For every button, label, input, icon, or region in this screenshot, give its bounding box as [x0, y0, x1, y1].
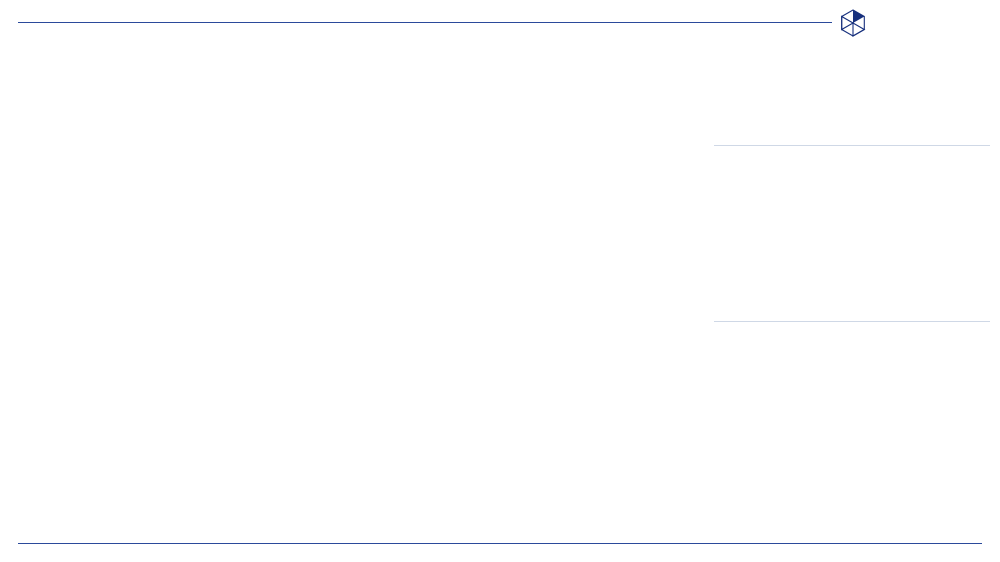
footer-divider: [18, 543, 982, 544]
chart-used-cars: [28, 312, 696, 502]
panel-used-divider: [714, 321, 990, 322]
autostat-hexagon-logo-icon: [838, 8, 868, 38]
chart-new-cars: [28, 132, 696, 312]
summary-panel-used-cars: [714, 306, 990, 330]
summary-panel-new-cars: [714, 130, 990, 154]
panel-new-divider: [714, 145, 990, 146]
autostat-logo: [832, 4, 982, 42]
infographic-page: [0, 0, 1000, 562]
